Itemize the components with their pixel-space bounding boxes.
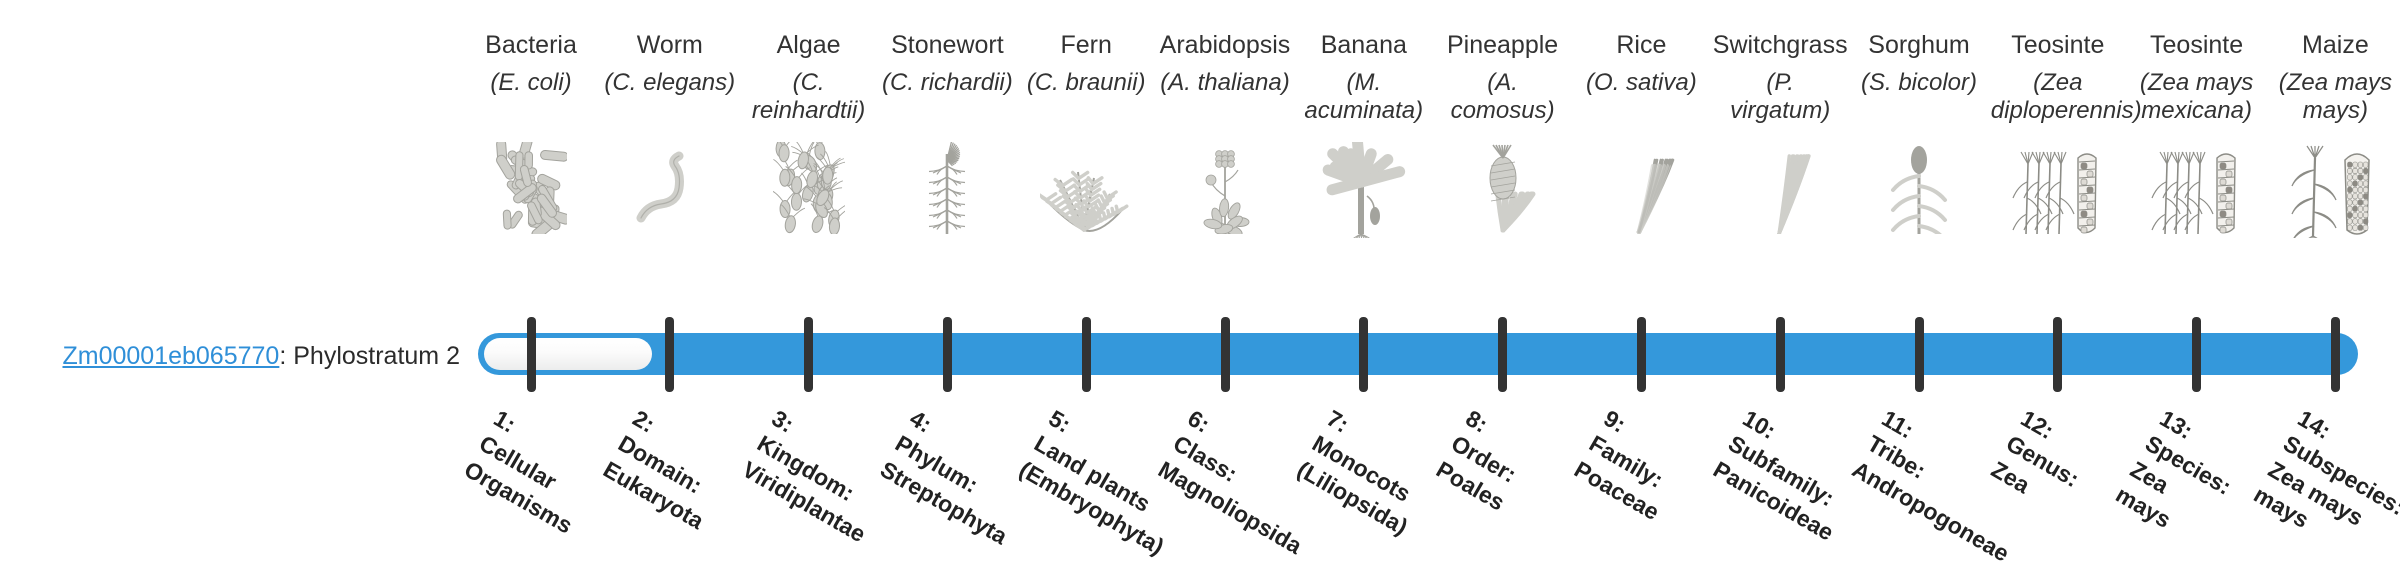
bacteria-illustration-icon [495, 142, 567, 234]
phylostratum-tick-3[interactable] [804, 317, 813, 392]
sorghum-illustration-icon [1885, 142, 1953, 234]
species-common-name: Rice [1572, 30, 1710, 61]
algae-illustration-icon [773, 142, 845, 234]
phylostratum-tick-9[interactable] [1637, 317, 1646, 392]
gene-label-separator: : [279, 342, 293, 370]
species-header-row: Bacteria(E. coli)Worm(C. elegans) Algae(… [0, 0, 2400, 310]
rank-label-8: 8:Order:Poales [1430, 404, 1538, 518]
species-common-name: Banana [1295, 30, 1433, 61]
species-scientific-name: (S. bicolor) [1850, 69, 1988, 98]
phylostratum-bar-track[interactable] [478, 333, 2358, 375]
species-scientific-name: (C. braunii) [1017, 69, 1155, 98]
species-scientific-name: (C. reinhardtii) [740, 69, 878, 127]
species-common-name: Sorghum [1850, 30, 1988, 61]
species-column-pineapple-7: Pineapple(A. comosus) [1434, 30, 1572, 126]
rank-label-9: 9:Family:Poaceae [1569, 404, 1694, 527]
species-common-name: Stonewort [878, 30, 1016, 61]
phylostratum-tick-10[interactable] [1776, 317, 1785, 392]
species-scientific-name: (C. elegans) [601, 69, 739, 98]
gene-id-link[interactable]: Zm00001eb065770 [62, 342, 279, 370]
species-column-rice-8: Rice(O. sativa) [1572, 30, 1710, 97]
species-column-teosinte-11: Teosinte(Zea diploperennis) [1989, 30, 2127, 126]
rank-label-10: 10:Subfamily:Panicoideae [1708, 404, 1868, 548]
fern-illustration-icon [1040, 142, 1132, 234]
banana-illustration-icon [1321, 142, 1407, 234]
phylostratum-value: Phylostratum 2 [293, 342, 460, 370]
arabidopsis-illustration-icon [1191, 142, 1259, 234]
species-column-algae-2: Algae(C. reinhardtii) [740, 30, 878, 126]
phylostratum-tick-2[interactable] [665, 317, 674, 392]
species-column-teosinte-12: Teosinte(Zea mays mexicana) [2128, 30, 2266, 126]
species-column-sorghum-10: Sorghum(S. bicolor) [1850, 30, 1988, 97]
species-column-stonewort-3: Stonewort(C. richardii) [878, 30, 1016, 97]
phylostratum-bar-unfilled [484, 338, 652, 370]
phylostratigraphy-figure: Zm00001eb065770: Phylostratum 2 Bacteria… [0, 0, 2400, 580]
phylostratum-tick-12[interactable] [2053, 317, 2062, 392]
species-common-name: Worm [601, 30, 739, 61]
species-scientific-name: (O. sativa) [1572, 69, 1710, 98]
species-column-banana-6: Banana(M. acuminata) [1295, 30, 1433, 126]
phylostratum-tick-8[interactable] [1498, 317, 1507, 392]
species-scientific-name: (A. comosus) [1434, 69, 1572, 127]
worm-illustration-icon [627, 142, 713, 234]
species-common-name: Teosinte [2128, 30, 2266, 61]
species-scientific-name: (Zea diploperennis) [1989, 69, 2127, 127]
phylostratum-tick-13[interactable] [2192, 317, 2201, 392]
species-common-name: Pineapple [1434, 30, 1572, 61]
species-common-name: Fern [1017, 30, 1155, 61]
rank-label-14: 14:Subspecies:Zea maysmays [2249, 404, 2400, 574]
maize-illustration-icon [2289, 142, 2381, 234]
teosinte-illustration-icon [2151, 142, 2243, 234]
phylostratum-tick-1[interactable] [527, 317, 536, 392]
rank-label-1: 1:CellularOrganisms [459, 404, 607, 541]
species-scientific-name: (P. virgatum) [1711, 69, 1849, 127]
species-common-name: Switchgrass [1711, 30, 1849, 61]
species-common-name: Teosinte [1989, 30, 2127, 61]
species-scientific-name: (C. richardii) [878, 69, 1016, 98]
species-scientific-name: (Zea mays mays) [2266, 69, 2400, 127]
species-column-bacteria-0: Bacteria(E. coli) [462, 30, 600, 97]
species-column-arabidopsis-5: Arabidopsis(A. thaliana) [1156, 30, 1294, 97]
phylostratum-tick-11[interactable] [1915, 317, 1924, 392]
species-scientific-name: (M. acuminata) [1295, 69, 1433, 127]
phylostratum-tick-6[interactable] [1221, 317, 1230, 392]
phylostratum-tick-5[interactable] [1082, 317, 1091, 392]
species-common-name: Bacteria [462, 30, 600, 61]
species-column-worm-1: Worm(C. elegans) [601, 30, 739, 97]
species-scientific-name: (A. thaliana) [1156, 69, 1294, 98]
species-scientific-name: (E. coli) [462, 69, 600, 98]
rank-label-13: 13:Species:Zeamays [2110, 404, 2251, 553]
species-common-name: Arabidopsis [1156, 30, 1294, 61]
species-scientific-name: (Zea mays mexicana) [2128, 69, 2266, 127]
phylostratum-tick-7[interactable] [1359, 317, 1368, 392]
gene-phylostratum-label: Zm00001eb065770: Phylostratum 2 [40, 342, 460, 371]
species-column-maize-13: Maize(Zea mays mays) [2266, 30, 2400, 126]
teosinte-illustration-icon [2012, 142, 2104, 234]
rice-illustration-icon [1603, 142, 1679, 234]
phylostratum-tick-14[interactable] [2331, 317, 2340, 392]
rank-label-3: 3:Kingdom:Viridiplantae [736, 404, 899, 549]
pineapple-illustration-icon [1469, 142, 1537, 234]
species-common-name: Maize [2266, 30, 2400, 61]
species-column-fern-4: Fern(C. braunii) [1017, 30, 1155, 97]
phylostratum-tick-4[interactable] [943, 317, 952, 392]
species-common-name: Algae [740, 30, 878, 61]
switchgrass-illustration-icon [1741, 142, 1819, 234]
rank-label-2: 2:Domain:Eukaryota [598, 404, 738, 536]
species-column-switchgrass-9: Switchgrass(P. virgatum) [1711, 30, 1849, 126]
stonewort-illustration-icon [917, 142, 977, 234]
